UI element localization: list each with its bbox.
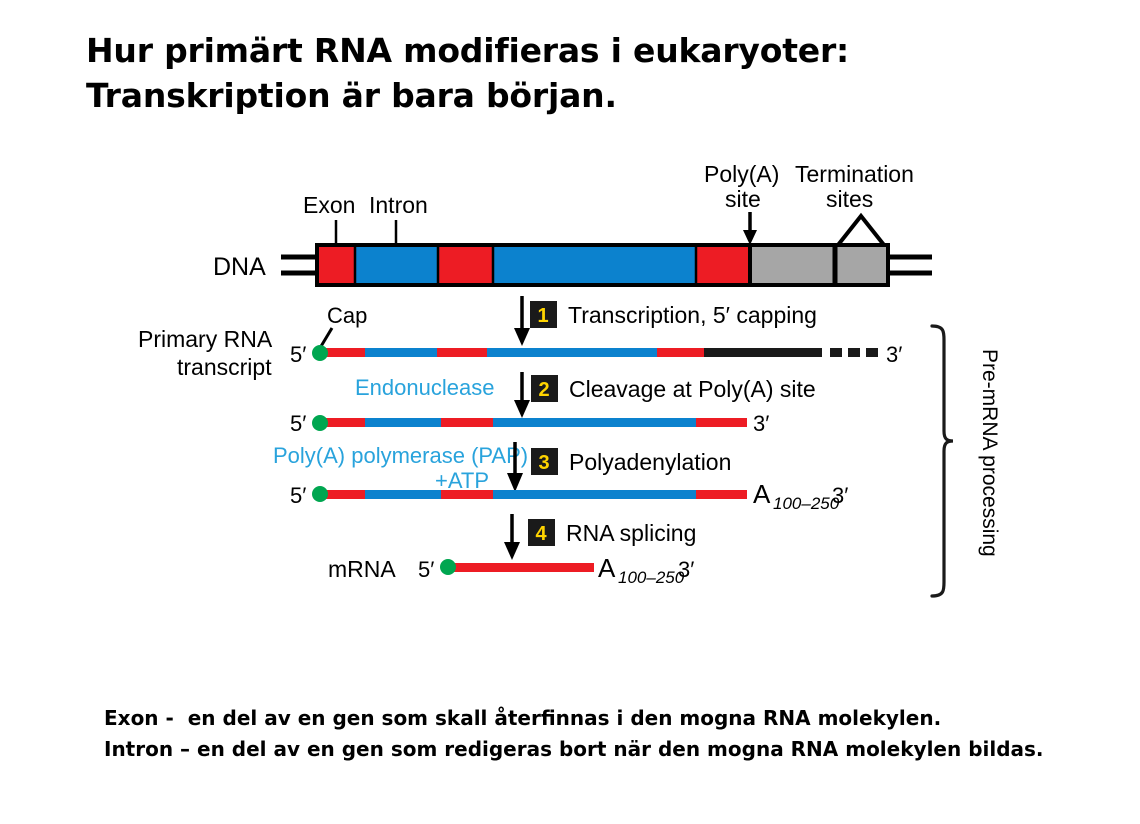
strand-segment-intron: [365, 348, 437, 357]
dna-row: DNA: [213, 161, 932, 285]
intron-label: Intron: [369, 192, 428, 218]
cleaved-transcript-five-prime: 5′: [290, 411, 306, 436]
strand-segment-exon: [441, 418, 493, 427]
pre-mrna-processing-bracket: Pre-mRNA processing: [932, 326, 1001, 596]
cap-dot-icon: [312, 486, 328, 502]
polyadenylated-strand: [320, 490, 747, 499]
step-3-enzyme-label-line2: +ATP: [435, 468, 489, 493]
slide-caption: Exon - en del av en gen som skall återfi…: [104, 703, 1084, 765]
dna-left-double-line: [281, 257, 319, 273]
step-2-label: Cleavage at Poly(A) site: [569, 376, 816, 402]
primary-transcript-strand: [320, 348, 822, 357]
step-3-arrowhead-icon: [507, 473, 523, 492]
primary-transcript-trailing-dashes: [830, 348, 878, 357]
step-1-label: Transcription, 5′ capping: [568, 302, 817, 328]
cleaved-transcript-strand: [320, 418, 747, 427]
strand-segment-exon: [657, 348, 704, 357]
step-3-number: 3: [538, 452, 549, 474]
rna-row-polyadenylated-transcript: 5′ A 100–250 3′: [290, 479, 848, 513]
primary-transcript-five-prime: 5′: [290, 342, 306, 367]
step-4-arrowhead-icon: [504, 542, 520, 560]
strand-segment-intron: [365, 418, 441, 427]
pre-mrna-processing-label: Pre-mRNA processing: [978, 349, 1001, 557]
dna-segment-exon-1: [317, 245, 355, 285]
strand-segment-readthrough: [704, 348, 822, 357]
strand-segment-intron: [487, 348, 657, 357]
step-3-group: Poly(A) polymerase (PAP) +ATP 3 Polyaden…: [273, 442, 731, 493]
step-3-label: Polyadenylation: [569, 449, 731, 475]
termination-sites-label-line1: Termination: [795, 161, 914, 187]
polya-site-label-line1: Poly(A): [704, 161, 779, 187]
polyadenylated-three-prime: 3′: [832, 483, 848, 508]
primary-transcript-label-line2: transcript: [177, 354, 272, 380]
dna-segment-exon-2: [438, 245, 493, 285]
mrna-tail-a: A: [598, 553, 616, 583]
dna-segment-intron-1: [355, 245, 438, 285]
step-4-number: 4: [535, 523, 547, 545]
exon-label: Exon: [303, 192, 355, 218]
dna-segment-terminator-1: [750, 245, 835, 285]
primary-transcript-three-prime: 3′: [886, 342, 902, 367]
cap-dot-icon: [312, 415, 328, 431]
strand-segment-intron: [365, 490, 441, 499]
rna-row-cleaved-transcript: 5′ 3′: [290, 411, 769, 436]
dna-row-label: DNA: [213, 253, 266, 281]
step-3-enzyme-label: Poly(A) polymerase (PAP): [273, 443, 528, 468]
mrna-three-prime: 3′: [678, 557, 694, 582]
mrna-row-label: mRNA: [328, 556, 396, 582]
strand-segment-exon: [441, 490, 493, 499]
polya-site-label-line2: site: [725, 186, 761, 212]
title-line-1: Hur primärt RNA modifieras i eukaryoter:: [86, 28, 1066, 73]
strand-segment-exon: [696, 490, 747, 499]
bracket-icon: [932, 326, 953, 596]
dna-segments: [317, 245, 888, 285]
step-1-arrowhead-icon: [514, 328, 530, 346]
step-2-number: 2: [538, 379, 549, 401]
step-2-enzyme-label: Endonuclease: [355, 375, 494, 400]
rna-processing-diagram: DNA: [0, 150, 1140, 620]
dna-segment-terminator-2: [835, 245, 888, 285]
dna-segment-intron-2: [493, 245, 696, 285]
strand-segment-exon: [696, 418, 747, 427]
slide-title: Hur primärt RNA modifieras i eukaryoter:…: [86, 28, 1066, 118]
strand-segment-intron: [493, 490, 696, 499]
polyadenylated-tail-a: A: [753, 479, 771, 509]
step-1-number: 1: [537, 305, 548, 327]
polya-site-arrow-icon: [743, 212, 757, 245]
strand-segment-exon: [437, 348, 487, 357]
caption-line-intron: Intron – en del av en gen som redigeras …: [104, 734, 1084, 765]
dna-segment-exon-3: [696, 245, 750, 285]
termination-sites-label-line2: sites: [826, 186, 873, 212]
step-4-label: RNA splicing: [566, 520, 696, 546]
step-2-group: Endonuclease 2 Cleavage at Poly(A) site: [355, 372, 816, 418]
step-1-group: 1 Transcription, 5′ capping: [514, 296, 817, 346]
cap-label: Cap: [327, 303, 367, 328]
mrna-tail-subscript: 100–250: [618, 568, 685, 587]
cap-dot-icon: [312, 345, 328, 361]
mrna-strand-segment-exon: [448, 563, 594, 572]
primary-transcript-label-line1: Primary RNA: [138, 326, 273, 352]
polyadenylated-tail-subscript: 100–250: [773, 494, 840, 513]
step-2-arrowhead-icon: [514, 400, 530, 418]
termination-hairpin-icon: [838, 216, 884, 245]
cleaved-transcript-three-prime: 3′: [753, 411, 769, 436]
mrna-five-prime: 5′: [418, 557, 434, 582]
cap-dot-icon: [440, 559, 456, 575]
caption-line-exon: Exon - en del av en gen som skall återfi…: [104, 703, 1084, 734]
cap-leader-line: [320, 328, 332, 348]
title-line-2: Transkription är bara början.: [86, 73, 1066, 118]
dna-right-double-line: [886, 257, 932, 273]
strand-segment-intron: [493, 418, 696, 427]
polyadenylated-five-prime: 5′: [290, 483, 306, 508]
